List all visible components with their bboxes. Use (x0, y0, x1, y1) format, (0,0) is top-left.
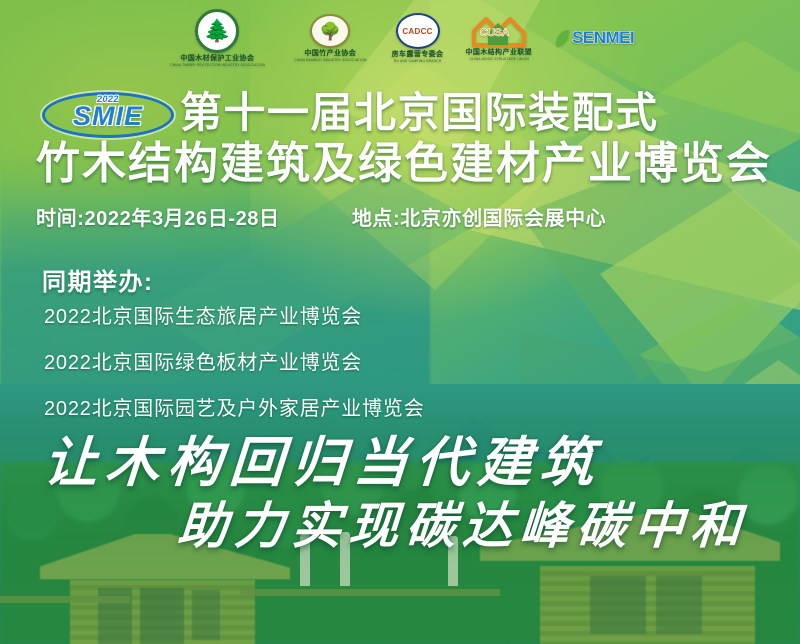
concurrent-events-label: 同期举办: (42, 262, 154, 297)
cusa-house-icon: CUSA (470, 15, 528, 47)
logo-china-bamboo-association[interactable]: 🌳 中国竹产业协会 CHINA BAMBOO INDUSTRY ASSOCIAT… (291, 14, 370, 61)
logo-subcaption: RV AND CAMPING BRANCH (394, 59, 441, 63)
logo-senmei[interactable]: SENMEI (554, 28, 634, 48)
logo-caption: 中国竹产业协会 (304, 50, 356, 57)
list-item: 2022北京国际园艺及户外家居产业博览会 (44, 392, 425, 421)
senmei-badge-text: SENMEI (572, 28, 634, 48)
logo-caption: 中国木结构产业联盟 (465, 49, 532, 56)
sponsor-logo-strip: 🌲 中国木材保护工业协会 CHINA TIMBER PROTECTION IND… (0, 0, 800, 76)
logo-subcaption: CHINA TIMBER PROTECTION INDUSTRY ASSOCIA… (170, 63, 265, 67)
cadcc-badge-icon: CADCC (396, 13, 440, 49)
pine-tree-in-circle-icon: 🌲 (195, 9, 239, 53)
logo-cusa[interactable]: CUSA 中国木结构产业联盟 CHINA WOOD STRUCTURE UNIO… (465, 15, 532, 60)
list-item: 2022北京国际绿色板材产业博览会 (44, 346, 425, 375)
page-title-line1: 第十一届北京国际装配式 (180, 90, 659, 135)
event-date: 时间:2022年3月26日-28日 (36, 208, 280, 230)
event-venue: 地点:北京亦创国际会展中心 (352, 208, 606, 230)
smie-logo-text: SMIE (42, 103, 174, 130)
list-item: 2022北京国际生态旅居产业博览会 (44, 300, 425, 329)
logo-subcaption: CHINA WOOD STRUCTURE UNION (469, 57, 528, 61)
exhibition-poster: 🌲 中国木材保护工业协会 CHINA TIMBER PROTECTION IND… (0, 0, 800, 644)
logo-china-timber-protection[interactable]: 🌲 中国木材保护工业协会 CHINA TIMBER PROTECTION IND… (166, 9, 269, 66)
slogan-line2: 助力实现碳达峰碳中和 (175, 486, 750, 558)
cadcc-badge-text: CADCC (402, 27, 432, 36)
logo-subcaption: CHINA BAMBOO INDUSTRY ASSOCIATION (294, 58, 366, 62)
smie-logo: 2022 SMIE (42, 92, 174, 138)
logo-caption: 中国木材保护工业协会 (180, 55, 254, 62)
bamboo-in-oval-icon: 🌳 (310, 14, 350, 48)
logo-caption: 房车露营专委会 (392, 51, 444, 58)
cusa-badge-text: CUSA (480, 27, 509, 39)
event-meta: 时间:2022年3月26日-28日 地点:北京亦创国际会展中心 (36, 202, 776, 231)
logo-cadcc[interactable]: CADCC 房车露营专委会 RV AND CAMPING BRANCH (392, 13, 444, 62)
senmei-leaf-icon: SENMEI (554, 28, 634, 48)
page-title-line2: 竹木结构建筑及绿色建材产业博览会 (36, 140, 772, 188)
